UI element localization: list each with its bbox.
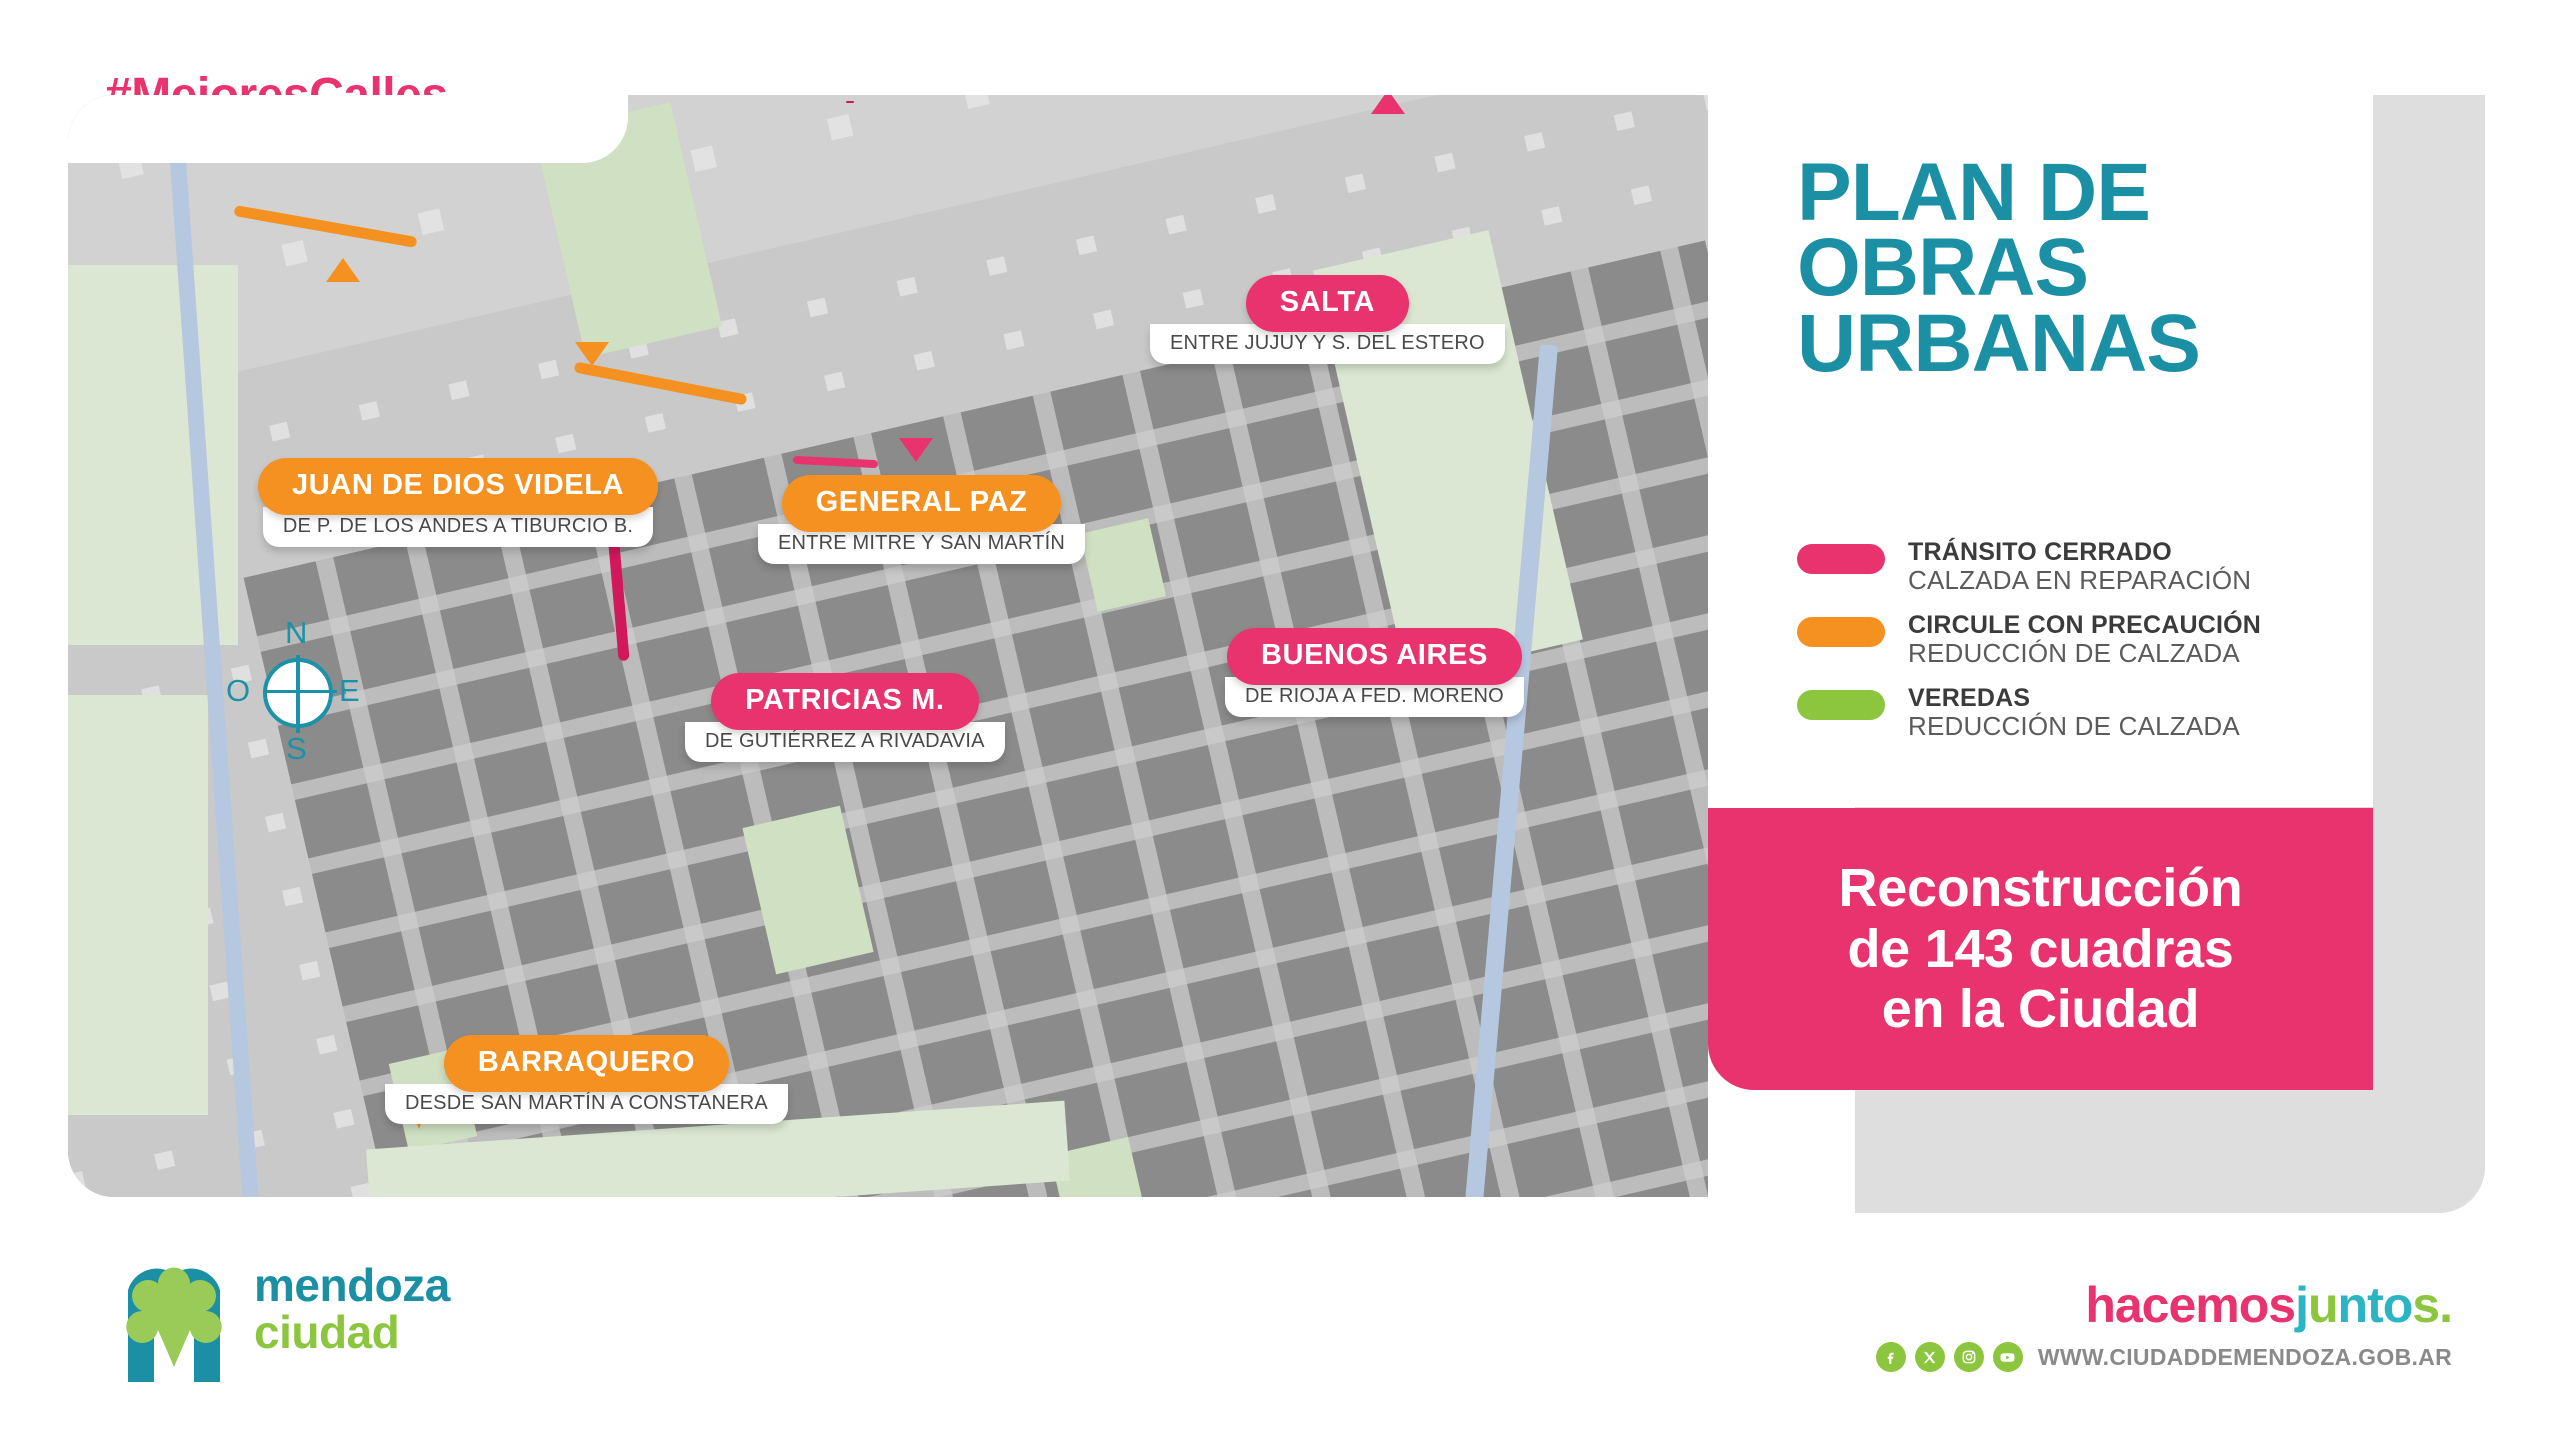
marker-arrow-buenos-aires [899,438,933,462]
legend-head: CIRCULE CON PRECAUCIÓN [1908,611,2261,639]
hj-part-s: s. [2412,1277,2452,1333]
callout-title: GENERAL PAZ [782,475,1062,532]
callout-salta[interactable]: SALTA ENTRE JUJUY Y S. DEL ESTERO [1150,275,1505,364]
compass-label-south: S [286,731,307,767]
logo-line-mendoza: mendoza [254,1262,450,1308]
instagram-icon[interactable] [1954,1342,1984,1372]
hacemos-juntos-block: hacemosjuntos. WWW.CIUDADDEMENDOZA.GOB.A… [1876,1280,2452,1372]
mendoza-ciudad-logo: mendoza ciudad [118,1252,538,1392]
legend-sub: REDUCCIÓN DE CALZADA [1908,639,2261,668]
legend: TRÁNSITO CERRADO CALZADA EN REPARACIÓN C… [1797,538,2357,757]
legend-swatch-green [1797,690,1885,720]
legend-swatch-orange [1797,617,1885,647]
city-map[interactable]: N S E O SALTA ENTRE JUJUY Y S. DEL ESTER… [68,95,1708,1197]
youtube-icon[interactable] [1993,1342,2023,1372]
callout-title: PATRICIAS M. [711,673,978,730]
facebook-icon[interactable] [1876,1342,1906,1372]
marker-arrow-videla [326,258,360,282]
legend-item-transito-cerrado: TRÁNSITO CERRADO CALZADA EN REPARACIÓN [1797,538,2357,595]
legend-head: VEREDAS [1908,684,2240,712]
x-icon[interactable] [1915,1342,1945,1372]
hj-part-j: j [2295,1277,2308,1333]
compass-rose: N S E O [226,615,376,775]
callout-general-paz[interactable]: GENERAL PAZ ENTRE MITRE Y SAN MARTÍN [758,475,1085,564]
social-and-url-row: WWW.CIUDADDEMENDOZA.GOB.AR [1876,1342,2452,1372]
hj-part-hacemos: hacemos [2085,1277,2295,1333]
marker-arrow-general-paz [575,342,609,366]
mendoza-ciudad-wordmark: mendoza ciudad [254,1262,450,1356]
map-corner-notch [68,95,628,163]
logo-line-ciudad: ciudad [254,1308,450,1356]
marker-arrow-salta [1371,95,1405,114]
compass-label-north: N [285,615,307,651]
legend-item-circule-con-precaucion: CIRCULE CON PRECAUCIÓN REDUCCIÓN DE CALZ… [1797,611,2357,668]
callout-title: BARRAQUERO [444,1035,729,1092]
page-title: PLAN DE OBRAS URBANAS [1797,155,2357,381]
callout-title: SALTA [1246,275,1409,332]
compass-label-east: E [339,673,360,709]
park-area [68,695,208,1115]
hj-part-u: u [2308,1277,2338,1333]
page-title-line-2: OBRAS [1797,230,2357,305]
highlight-banner: Reconstrucción de 143 cuadras en la Ciud… [1708,808,2373,1090]
hj-part-nt: nt [2338,1277,2383,1333]
website-url[interactable]: WWW.CIUDADDEMENDOZA.GOB.AR [2038,1344,2452,1371]
compass-label-west: O [226,673,250,709]
callout-patricias-mendocinas[interactable]: PATRICIAS M. DE GUTIÉRREZ A RIVADAVIA [685,673,1005,762]
legend-sub: CALZADA EN REPARACIÓN [1908,566,2251,595]
callout-juan-de-dios-videla[interactable]: JUAN DE DIOS VIDELA DE P. DE LOS ANDES A… [258,458,658,547]
legend-item-veredas: VEREDAS REDUCCIÓN DE CALZADA [1797,684,2357,741]
hj-part-o: o [2383,1277,2413,1333]
legend-sub: REDUCCIÓN DE CALZADA [1908,712,2240,741]
compass-needle-horizontal [263,690,337,693]
compass-needle-vertical [296,655,300,733]
mendoza-m-icon [118,1252,230,1382]
banner-line-3: en la Ciudad [1839,979,2243,1039]
legend-head: TRÁNSITO CERRADO [1908,538,2251,566]
legend-swatch-pink [1797,544,1885,574]
page-title-line-3: URBANAS [1797,306,2357,381]
banner-line-1: Reconstrucción [1839,858,2243,918]
callout-barraquero[interactable]: BARRAQUERO DESDE SAN MARTÍN A CONSTANERA [385,1035,788,1124]
banner-line-2: de 143 cuadras [1839,919,2243,979]
callout-title: BUENOS AIRES [1227,628,1522,685]
highlight-banner-text: Reconstrucción de 143 cuadras en la Ciud… [1839,858,2243,1039]
hacemos-juntos-wordmark: hacemosjuntos. [1876,1280,2452,1330]
callout-title: JUAN DE DIOS VIDELA [258,458,658,515]
segment-salta [846,101,854,103]
page-title-line-1: PLAN DE [1797,155,2357,230]
callout-buenos-aires[interactable]: BUENOS AIRES DE RIOJA A FED. MORENO [1225,628,1524,717]
